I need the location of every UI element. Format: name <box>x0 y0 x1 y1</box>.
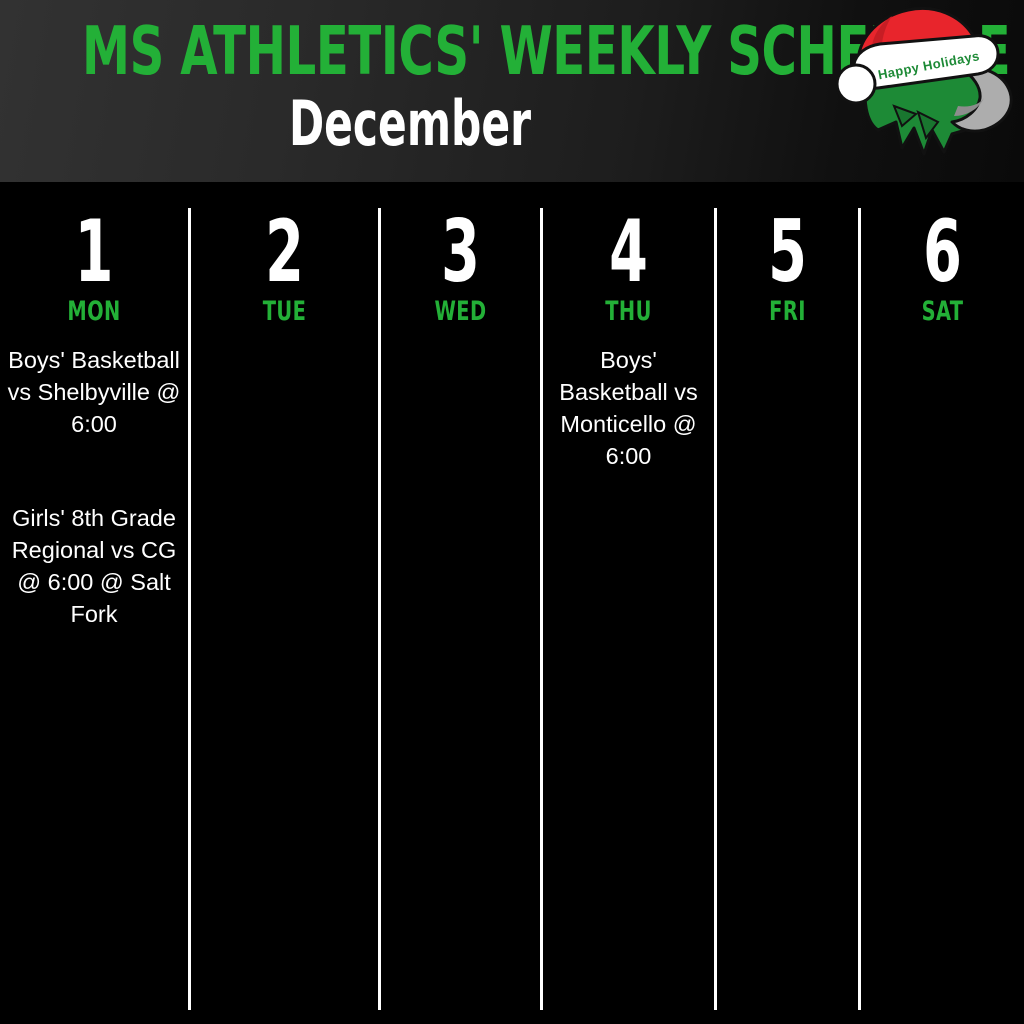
day-number: 3 <box>403 208 517 296</box>
calendar-grid: 1 MON Boys' Basketball vs Shelbyville @ … <box>0 182 1024 1024</box>
event-item[interactable]: Boys' Basketball vs Shelbyville @ 6:00 <box>4 344 184 440</box>
page-title: MS ATHLETICS' WEEKLY SCHEDULE <box>82 16 738 86</box>
poster-header: MS ATHLETICS' WEEKLY SCHEDULE December <box>0 0 1024 182</box>
day-column-thu[interactable]: 4 THU Boys' Basketball vs Monticello @ 6… <box>543 208 714 1014</box>
day-column-fri[interactable]: 5 FRI <box>717 208 858 1014</box>
day-number: 6 <box>884 208 1001 296</box>
day-number: 2 <box>217 208 352 296</box>
day-number: 4 <box>567 208 690 296</box>
day-abbr: MON <box>19 298 169 326</box>
day-abbr: FRI <box>731 298 844 326</box>
day-abbr: SAT <box>877 298 1007 326</box>
day-abbr: WED <box>397 298 524 326</box>
day-column-tue[interactable]: 2 TUE <box>191 208 378 1014</box>
day-abbr: THU <box>560 298 697 326</box>
day-number: 1 <box>26 208 161 296</box>
day-column-sat[interactable]: 6 SAT <box>861 208 1024 1014</box>
header-title-block: MS ATHLETICS' WEEKLY SCHEDULE December <box>0 0 820 182</box>
day-column-wed[interactable]: 3 WED <box>381 208 540 1014</box>
day-abbr: TUE <box>210 298 360 326</box>
day-events: Boys' Basketball vs Monticello @ 6:00 <box>543 344 714 472</box>
month-subtitle: December <box>98 92 721 156</box>
day-events: Boys' Basketball vs Shelbyville @ 6:00 G… <box>0 344 188 630</box>
hawk-santa-hat-logo: Happy Holidays <box>832 2 1018 182</box>
event-item[interactable]: Girls' 8th Grade Regional vs CG @ 6:00 @… <box>4 502 184 630</box>
weekly-schedule-poster: MS ATHLETICS' WEEKLY SCHEDULE December <box>0 0 1024 1024</box>
event-item[interactable]: Boys' Basketball vs Monticello @ 6:00 <box>547 344 710 472</box>
day-column-mon[interactable]: 1 MON Boys' Basketball vs Shelbyville @ … <box>0 208 188 1014</box>
day-number: 5 <box>737 208 839 296</box>
